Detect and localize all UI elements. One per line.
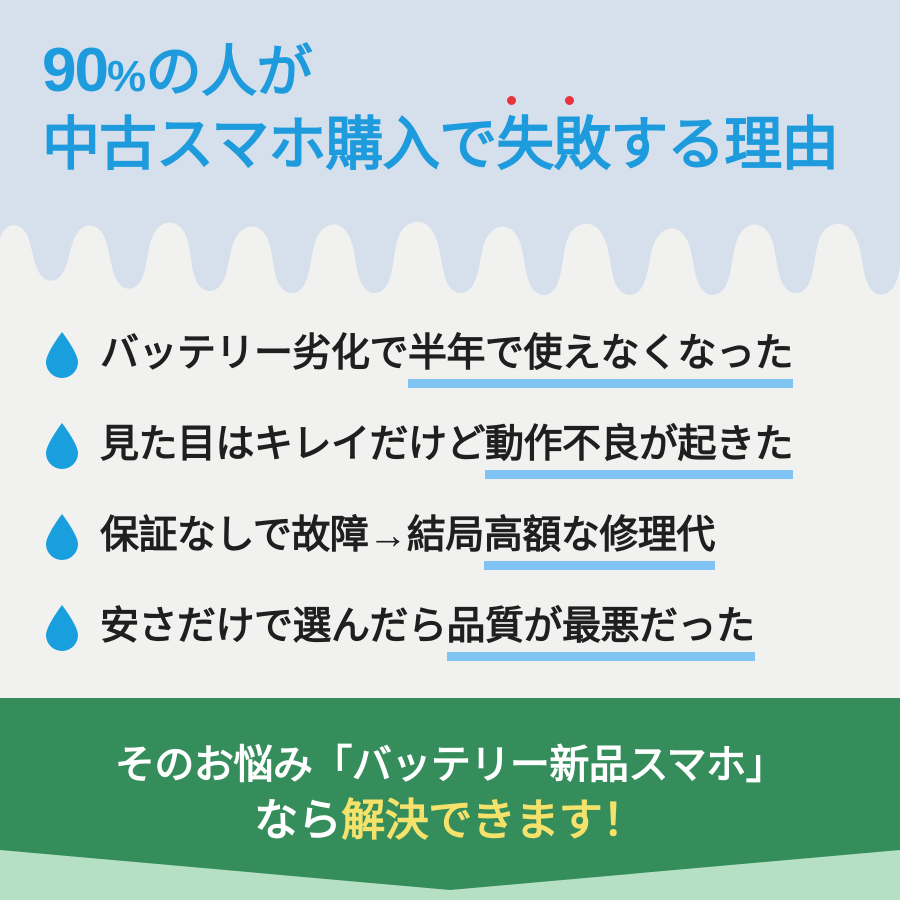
list-item-text: 見た目はキレイだけど動作不良が起きた (100, 424, 793, 467)
poster-root: 90%の人が 中古スマホ購入で失敗する理由 バッテリー劣化で半年で使えなくなった… (0, 0, 900, 900)
list-item: 安さだけで選んだら品質が最悪だった (0, 582, 900, 673)
footer-section: そのお悩み「バッテリー新品スマホ」 なら解決できます！ (0, 698, 900, 900)
list-item-text: 保証なしで故障→結局高額な修理代 (100, 515, 715, 558)
list-item-text-plain: 見た目はキレイだけど (100, 423, 485, 466)
headline-percent-number: 90 (42, 36, 107, 105)
headline-line-2-before: 中古スマホ購入で (42, 112, 496, 177)
water-droplet-icon (46, 332, 78, 378)
footer-line-2-plain: なら (254, 796, 341, 845)
list-item-text: 安さだけで選んだら品質が最悪だった (100, 606, 755, 649)
headline-line-1: 90%の人が (0, 40, 900, 102)
headline-percent-sign: % (107, 52, 146, 101)
reasons-list: バッテリー劣化で半年で使えなくなった 見た目はキレイだけど動作不良が起きた 保証… (0, 300, 900, 673)
list-item-text: バッテリー劣化で半年で使えなくなった (100, 333, 793, 376)
list-item-text-highlighted: 高額な修理代 (484, 515, 715, 558)
footer-line-1: そのお悩み「バッテリー新品スマホ」 (0, 742, 900, 789)
headline-line-2-after: する理由 (610, 112, 838, 177)
list-item-text-plain: 安さだけで選んだら (100, 605, 447, 648)
water-droplet-icon (46, 514, 78, 560)
list-item: 見た目はキレイだけど動作不良が起きた (0, 400, 900, 491)
list-item-text-highlighted: 半年で使えなくなった (408, 333, 793, 376)
reasons-section: バッテリー劣化で半年で使えなくなった 見た目はキレイだけど動作不良が起きた 保証… (0, 300, 900, 698)
headline-line-2: 中古スマホ購入で失敗する理由 (0, 116, 900, 174)
footer-line-2-accent: 解決できます！ (341, 796, 646, 845)
list-item-text-highlighted: 動作不良が起きた (485, 424, 793, 467)
list-item: 保証なしで故障→結局高額な修理代 (0, 491, 900, 582)
water-droplet-icon (46, 423, 78, 469)
footer-line-2: なら解決できます！ (0, 795, 900, 847)
drip-divider-icon (0, 200, 900, 300)
water-droplet-icon (46, 605, 78, 651)
list-item: バッテリー劣化で半年で使えなくなった (0, 309, 900, 400)
headline-line-1-rest: の人が (146, 40, 313, 103)
footer-text-block: そのお悩み「バッテリー新品スマホ」 なら解決できます！ (0, 698, 900, 847)
list-item-text-plain: バッテリー劣化で (100, 332, 408, 375)
list-item-text-highlighted: 品質が最悪だった (447, 606, 755, 649)
headline-emphasis-word: 失敗 (496, 116, 610, 174)
header-title-block: 90%の人が 中古スマホ購入で失敗する理由 (0, 0, 900, 174)
list-item-text-plain: 保証なしで故障→結局 (100, 514, 484, 557)
header-section: 90%の人が 中古スマホ購入で失敗する理由 (0, 0, 900, 300)
